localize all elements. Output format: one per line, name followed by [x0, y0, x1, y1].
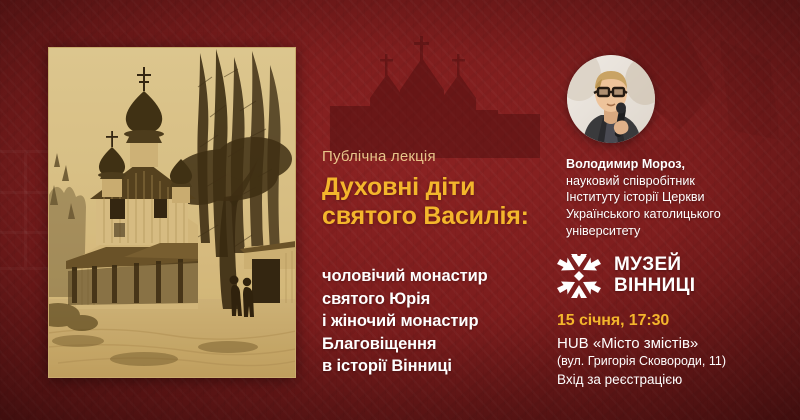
- poster-canvas: Публічна лекція Духовні діти святого Вас…: [0, 0, 800, 420]
- museum-logo-line-1: МУЗЕЙ: [614, 255, 695, 276]
- event-address: (вул. Григорія Сковороди, 11): [557, 353, 797, 370]
- event-entry-note: Вхід за реєстрацією: [557, 371, 797, 390]
- headline-column: Публічна лекція Духовні діти святого Вас…: [322, 148, 547, 378]
- subtitle-block: чоловічий монастир святого Юрія і жіночи…: [322, 265, 547, 378]
- event-details: 15 січня, 17:30 HUB «Місто змістів» (вул…: [557, 310, 797, 390]
- speaker-role-line-1: науковий співробітник: [566, 173, 798, 190]
- speaker-role-line-2: Інституту історії Церкви: [566, 189, 798, 206]
- museum-star-mark-icon: [553, 250, 605, 302]
- subtitle-line-2: святого Юрія: [322, 288, 547, 311]
- museum-logo-text: МУЗЕЙ ВІННИЦІ: [614, 255, 695, 296]
- avatar: [567, 55, 655, 143]
- archival-photo: [48, 47, 296, 378]
- speaker-role-line-4: університету: [566, 223, 798, 240]
- title-line-2: святого Василія:: [322, 202, 547, 231]
- subtitle-line-1: чоловічий монастир: [322, 265, 547, 288]
- title-line-1: Духовні діти: [322, 173, 547, 202]
- page-title: Духовні діти святого Василія:: [322, 173, 547, 231]
- subtitle-line-5: в історії Вінниці: [322, 355, 547, 378]
- speaker-info: Володимир Мороз, науковий співробітник І…: [566, 156, 798, 240]
- kicker-label: Публічна лекція: [322, 148, 547, 166]
- speaker-name: Володимир Мороз,: [566, 156, 798, 173]
- speaker-role-line-3: Українського католицького: [566, 206, 798, 223]
- subtitle-line-4: Благовіщення: [322, 333, 547, 356]
- museum-logo-line-2: ВІННИЦІ: [614, 276, 695, 297]
- event-venue: HUB «Місто змістів»: [557, 334, 797, 354]
- museum-logo: МУЗЕЙ ВІННИЦІ: [553, 250, 695, 302]
- subtitle-line-3: і жіночий монастир: [322, 310, 547, 333]
- event-datetime: 15 січня, 17:30: [557, 310, 797, 332]
